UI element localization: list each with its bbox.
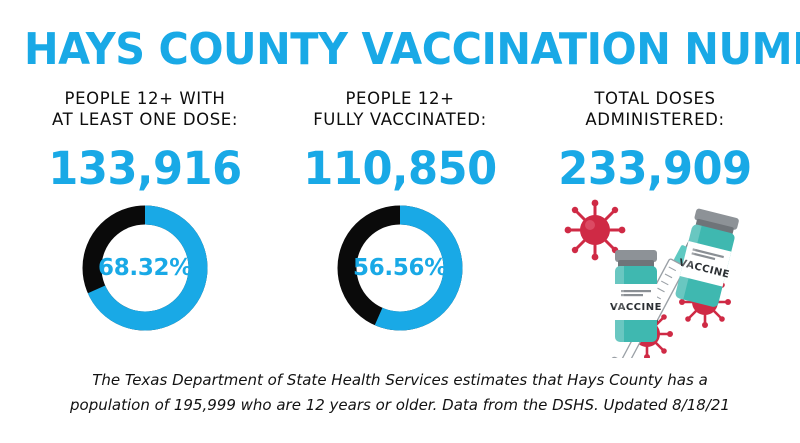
donut-percent-label: 68.32% (79, 202, 211, 334)
donut-percent-label: 56.56% (334, 202, 466, 334)
stat-number: 133,916 (17, 142, 272, 196)
stat-column-at-least-one-dose: PEOPLE 12+ WITH AT LEAST ONE DOSE: 133,9… (12, 88, 278, 358)
donut-chart-fully-vaccinated: 56.56% (334, 202, 466, 334)
stat-number: 110,850 (272, 142, 527, 196)
stat-label: PEOPLE 12+ WITH AT LEAST ONE DOSE: (12, 88, 278, 130)
stat-label: PEOPLE 12+ FULLY VACCINATED: (267, 88, 533, 130)
vaccine-vial-icon: VACCINE (671, 207, 744, 309)
stat-column-fully-vaccinated: PEOPLE 12+ FULLY VACCINATED: 110,850 56.… (267, 88, 533, 358)
stat-number: 233,909 (527, 142, 782, 196)
vaccine-illustration: VACCINE VACCINE (555, 198, 755, 358)
infographic-canvas: HAYS COUNTY VACCINATION NUMBERS PEOPLE 1… (0, 0, 800, 443)
stat-label: TOTAL DOSES ADMINISTERED: (522, 88, 788, 130)
vaccine-illustration-svg: VACCINE VACCINE (555, 198, 755, 358)
stats-columns: PEOPLE 12+ WITH AT LEAST ONE DOSE: 133,9… (0, 88, 800, 358)
footer-note: The Texas Department of State Health Ser… (50, 368, 750, 418)
page-title: HAYS COUNTY VACCINATION NUMBERS (24, 26, 776, 74)
donut-chart-at-least-one-dose: 68.32% (79, 202, 211, 334)
stat-column-total-doses: TOTAL DOSES ADMINISTERED: 233,909 (522, 88, 788, 358)
vaccine-vial-icon: VACCINE (610, 250, 662, 342)
